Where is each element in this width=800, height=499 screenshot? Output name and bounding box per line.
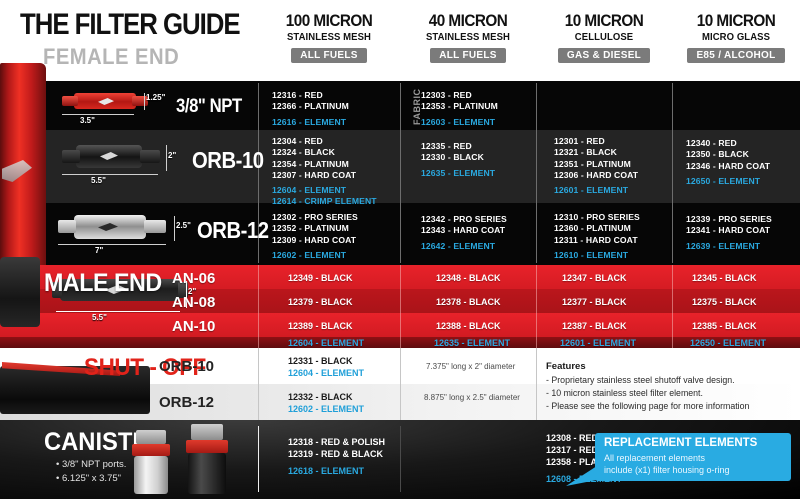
part-number: 12330 - BLACK bbox=[421, 152, 495, 163]
cell-orb10-100micron: 12304 - RED 12324 - BLACK 12354 - PLATIN… bbox=[272, 136, 377, 208]
callout-line: include (x1) filter housing o-ring bbox=[604, 464, 730, 476]
row-label-npt: 3/8" NPT bbox=[176, 96, 242, 118]
element-part-number: 12601 - ELEMENT bbox=[554, 185, 638, 196]
part-number: 12339 - PRO SERIES bbox=[686, 214, 772, 225]
column-divider bbox=[400, 426, 401, 492]
element-part-number: 12603 - ELEMENT bbox=[421, 117, 498, 128]
part-number: 12316 - RED bbox=[272, 90, 349, 101]
dimension-diameter-label: 1.25" bbox=[146, 93, 165, 102]
column-material-label: CELLULOSE bbox=[539, 31, 668, 44]
canister-spec-item: • 3/8" NPT ports. bbox=[56, 458, 126, 472]
part-number: 12310 - PRO SERIES bbox=[554, 212, 640, 223]
column-divider bbox=[258, 426, 259, 492]
callout-body: All replacement elements include (x1) fi… bbox=[604, 452, 730, 476]
dimension-diameter-label: 2" bbox=[168, 151, 176, 160]
part-number: 12366 - PLATINUM bbox=[272, 101, 349, 112]
cell-orb12-10cellulose: 12310 - PRO SERIES 12360 - PLATINUM 1231… bbox=[554, 212, 640, 261]
part-number: 12353 - PLATINUM bbox=[421, 101, 498, 112]
part-number: 12324 - BLACK bbox=[272, 147, 377, 158]
dimension-line bbox=[166, 145, 167, 171]
column-material-label: STAINLESS MESH bbox=[403, 31, 532, 44]
part-number: 12309 - HARD COAT bbox=[272, 235, 358, 246]
dimension-shutoff-orb10: 7.375" long x 2" diameter bbox=[426, 362, 515, 371]
column-micron-label: 40 MICRON bbox=[407, 12, 529, 30]
product-image-canister-polish bbox=[128, 430, 174, 494]
part-number: 12303 - RED bbox=[421, 90, 498, 101]
column-header-10-micron-micro-glass: 10 MICRON MICRO GLASS E85 / ALCOHOL bbox=[672, 12, 800, 63]
row-label-an06: AN-06 bbox=[172, 270, 215, 287]
features-heading: Features bbox=[546, 361, 586, 372]
section-title-male-end: MALE END bbox=[44, 269, 162, 298]
header-band: THE FILTER GUIDE FEMALE END 100 MICRON S… bbox=[0, 0, 800, 81]
feature-item: - Proprietary stainless steel shutoff va… bbox=[546, 374, 749, 387]
column-divider bbox=[258, 265, 259, 348]
dimension-line bbox=[174, 216, 175, 241]
feature-item: - 10 micron stainless steel filter eleme… bbox=[546, 387, 749, 400]
cell-an10-10cellulose: 12387 - BLACK bbox=[562, 321, 627, 331]
column-micron-label: 10 MICRON bbox=[543, 12, 665, 30]
an-fitting-art bbox=[0, 257, 40, 327]
column-divider bbox=[672, 83, 673, 263]
element-part-number: 12604 - ELEMENT bbox=[288, 338, 364, 348]
callout-line: All replacement elements bbox=[604, 452, 730, 464]
dimension-length-label: 7" bbox=[95, 246, 103, 255]
cell-canister-100micron: 12318 - RED & POLISH 12319 - RED & BLACK… bbox=[288, 436, 385, 477]
column-header-100-micron: 100 MICRON STAINLESS MESH ALL FUELS bbox=[258, 12, 400, 63]
cell-shutoff-orb12: 12332 - BLACK 12602 - ELEMENT bbox=[288, 392, 364, 415]
dimension-diameter-label: 2.5" bbox=[176, 221, 191, 230]
element-part-number: 12635 - ELEMENT bbox=[434, 338, 510, 348]
element-part-number: 12650 - ELEMENT bbox=[686, 176, 770, 187]
dimension-length-label: 5.5" bbox=[92, 313, 107, 322]
element-part-number: 12602 - ELEMENT bbox=[272, 250, 358, 261]
part-number: 12360 - PLATINUM bbox=[554, 223, 640, 234]
column-header-40-micron: 40 MICRON STAINLESS MESH ALL FUELS bbox=[400, 12, 536, 63]
part-number: 12343 - HARD COAT bbox=[421, 225, 507, 236]
section-title-female-end: FEMALE END bbox=[43, 44, 179, 70]
part-number: 12301 - RED bbox=[554, 136, 638, 147]
male-end-section: 5.5" 2" MALE END AN-06 AN-08 AN-10 12349… bbox=[0, 265, 800, 348]
column-fuel-badge: GAS & DIESEL bbox=[558, 48, 650, 63]
cell-an06-10microglass: 12345 - BLACK bbox=[692, 273, 757, 283]
part-number: 12352 - PLATINUM bbox=[272, 223, 358, 234]
part-number: 12319 - RED & BLACK bbox=[288, 448, 385, 460]
dimension-line bbox=[62, 174, 158, 175]
element-part-number: 12604 - ELEMENT bbox=[288, 368, 364, 380]
row-label-an08: AN-08 bbox=[172, 294, 215, 311]
dimension-length-label: 3.5" bbox=[80, 116, 95, 125]
part-number: 12346 - HARD COAT bbox=[686, 161, 770, 172]
column-divider bbox=[536, 265, 537, 348]
product-image-orb12 bbox=[58, 214, 168, 240]
cell-an08-40micron: 12378 - BLACK bbox=[436, 297, 501, 307]
dimension-length-label: 5.5" bbox=[91, 176, 106, 185]
cell-shutoff-orb10: 12331 - BLACK 12604 - ELEMENT bbox=[288, 356, 364, 379]
cell-npt-100micron: 12316 - RED 12366 - PLATINUM 12616 - ELE… bbox=[272, 90, 349, 128]
row-label-an10: AN-10 bbox=[172, 318, 215, 335]
cell-orb10-10cellulose: 12301 - RED 12321 - BLACK 12351 - PLATIN… bbox=[554, 136, 638, 196]
part-number: 12321 - BLACK bbox=[554, 147, 638, 158]
dimension-line bbox=[144, 93, 145, 110]
product-image-canister-black bbox=[182, 424, 232, 494]
cell-an08-10cellulose: 12377 - BLACK bbox=[562, 297, 627, 307]
part-number: 12302 - PRO SERIES bbox=[272, 212, 358, 223]
column-divider bbox=[400, 348, 401, 420]
filter-guide-sheet: THE FILTER GUIDE FEMALE END 100 MICRON S… bbox=[0, 0, 800, 499]
column-micron-label: 10 MICRON bbox=[678, 12, 793, 30]
product-image-npt bbox=[62, 92, 148, 110]
row-label-orb10: ORB-10 bbox=[192, 147, 264, 174]
shutoff-section: SHUT - OFF ORB-10 ORB-12 12331 - BLACK 1… bbox=[0, 348, 800, 420]
element-part-number: 12650 - ELEMENT bbox=[690, 338, 766, 348]
cell-an08-10microglass: 12375 - BLACK bbox=[692, 297, 757, 307]
column-divider bbox=[672, 265, 673, 348]
part-number: 12342 - PRO SERIES bbox=[421, 214, 507, 225]
element-part-number: 12614 - CRIMP ELEMENT bbox=[272, 196, 377, 207]
column-header-10-micron-cellulose: 10 MICRON CELLULOSE GAS & DIESEL bbox=[536, 12, 672, 63]
element-part-number: 12618 - ELEMENT bbox=[288, 465, 385, 477]
cell-an10-100micron: 12389 - BLACK bbox=[288, 321, 353, 331]
part-number: 12332 - BLACK bbox=[288, 392, 364, 404]
column-divider bbox=[258, 348, 259, 420]
cell-an06-40micron: 12348 - BLACK bbox=[436, 273, 501, 283]
cell-an08-100micron: 12379 - BLACK bbox=[288, 297, 353, 307]
part-number: 12318 - RED & POLISH bbox=[288, 436, 385, 448]
dimension-line bbox=[62, 114, 134, 115]
product-image-orb10 bbox=[62, 143, 160, 170]
feature-item: - Please see the following page for more… bbox=[546, 400, 749, 413]
column-fuel-badge: ALL FUELS bbox=[430, 48, 506, 63]
cell-npt-40micron: 12303 - RED 12353 - PLATINUM 12603 - ELE… bbox=[421, 90, 498, 128]
cell-an06-100micron: 12349 - BLACK bbox=[288, 273, 353, 283]
column-divider bbox=[400, 265, 401, 348]
part-number: 12341 - HARD COAT bbox=[686, 225, 772, 236]
part-number: 12331 - BLACK bbox=[288, 356, 364, 368]
part-number: 12306 - HARD COAT bbox=[554, 170, 638, 181]
element-part-number: 12616 - ELEMENT bbox=[272, 117, 349, 128]
part-number: 12350 - BLACK bbox=[686, 149, 770, 160]
cell-an06-10cellulose: 12347 - BLACK bbox=[562, 273, 627, 283]
part-number: 12311 - HARD COAT bbox=[554, 235, 640, 246]
cell-an10-10microglass: 12385 - BLACK bbox=[692, 321, 757, 331]
element-part-number: 12642 - ELEMENT bbox=[421, 241, 507, 252]
column-material-label: MICRO GLASS bbox=[675, 31, 797, 44]
element-part-number: 12601 - ELEMENT bbox=[560, 338, 636, 348]
element-part-number: 12635 - ELEMENT bbox=[421, 168, 495, 179]
column-material-label: STAINLESS MESH bbox=[262, 31, 397, 44]
cell-orb12-10microglass: 12339 - PRO SERIES 12341 - HARD COAT 126… bbox=[686, 214, 772, 252]
element-part-number: 12604 - ELEMENT bbox=[272, 185, 377, 196]
page-title: THE FILTER GUIDE bbox=[20, 8, 240, 42]
column-micron-label: 100 MICRON bbox=[265, 12, 393, 30]
dimension-line bbox=[58, 244, 166, 245]
part-number: 12307 - HARD COAT bbox=[272, 170, 377, 181]
part-number: 12304 - RED bbox=[272, 136, 377, 147]
features-list: - Proprietary stainless steel shutoff va… bbox=[546, 374, 749, 412]
element-part-number: 12602 - ELEMENT bbox=[288, 404, 364, 416]
cell-orb12-40micron: 12342 - PRO SERIES 12343 - HARD COAT 126… bbox=[421, 214, 507, 252]
part-number: 12340 - RED bbox=[686, 138, 770, 149]
cell-orb10-40micron: 12335 - RED 12330 - BLACK 12635 - ELEMEN… bbox=[421, 141, 495, 179]
female-end-section: 3.5" 1.25" 3/8" NPT 12316 - RED 12366 - … bbox=[0, 81, 800, 265]
dimension-shutoff-orb12: 8.875" long x 2.5" diameter bbox=[424, 393, 520, 402]
column-fuel-badge: ALL FUELS bbox=[291, 48, 367, 63]
cell-orb10-10microglass: 12340 - RED 12350 - BLACK 12346 - HARD C… bbox=[686, 138, 770, 187]
column-divider bbox=[536, 348, 537, 420]
element-part-number: 12610 - ELEMENT bbox=[554, 250, 640, 261]
canister-specs: • 3/8" NPT ports. • 6.125" x 3.75" bbox=[56, 458, 126, 486]
callout-heading: REPLACEMENT ELEMENTS bbox=[604, 437, 757, 449]
dimension-line bbox=[56, 311, 180, 312]
column-divider bbox=[400, 83, 401, 263]
row-label-shutoff-orb12: ORB-12 bbox=[159, 394, 214, 411]
column-fuel-badge: E85 / ALCOHOL bbox=[687, 48, 784, 63]
part-number: 12351 - PLATINUM bbox=[554, 159, 638, 170]
row-label-orb12: ORB-12 bbox=[197, 217, 269, 244]
part-number: 12335 - RED bbox=[421, 141, 495, 152]
row-label-shutoff-orb10: ORB-10 bbox=[159, 358, 214, 375]
part-number: 12354 - PLATINUM bbox=[272, 159, 377, 170]
canister-spec-item: • 6.125" x 3.75" bbox=[56, 472, 126, 486]
cell-an10-40micron: 12388 - BLACK bbox=[436, 321, 501, 331]
column-divider bbox=[536, 83, 537, 263]
cell-orb12-100micron: 12302 - PRO SERIES 12352 - PLATINUM 1230… bbox=[272, 212, 358, 261]
element-part-number: 12639 - ELEMENT bbox=[686, 241, 772, 252]
